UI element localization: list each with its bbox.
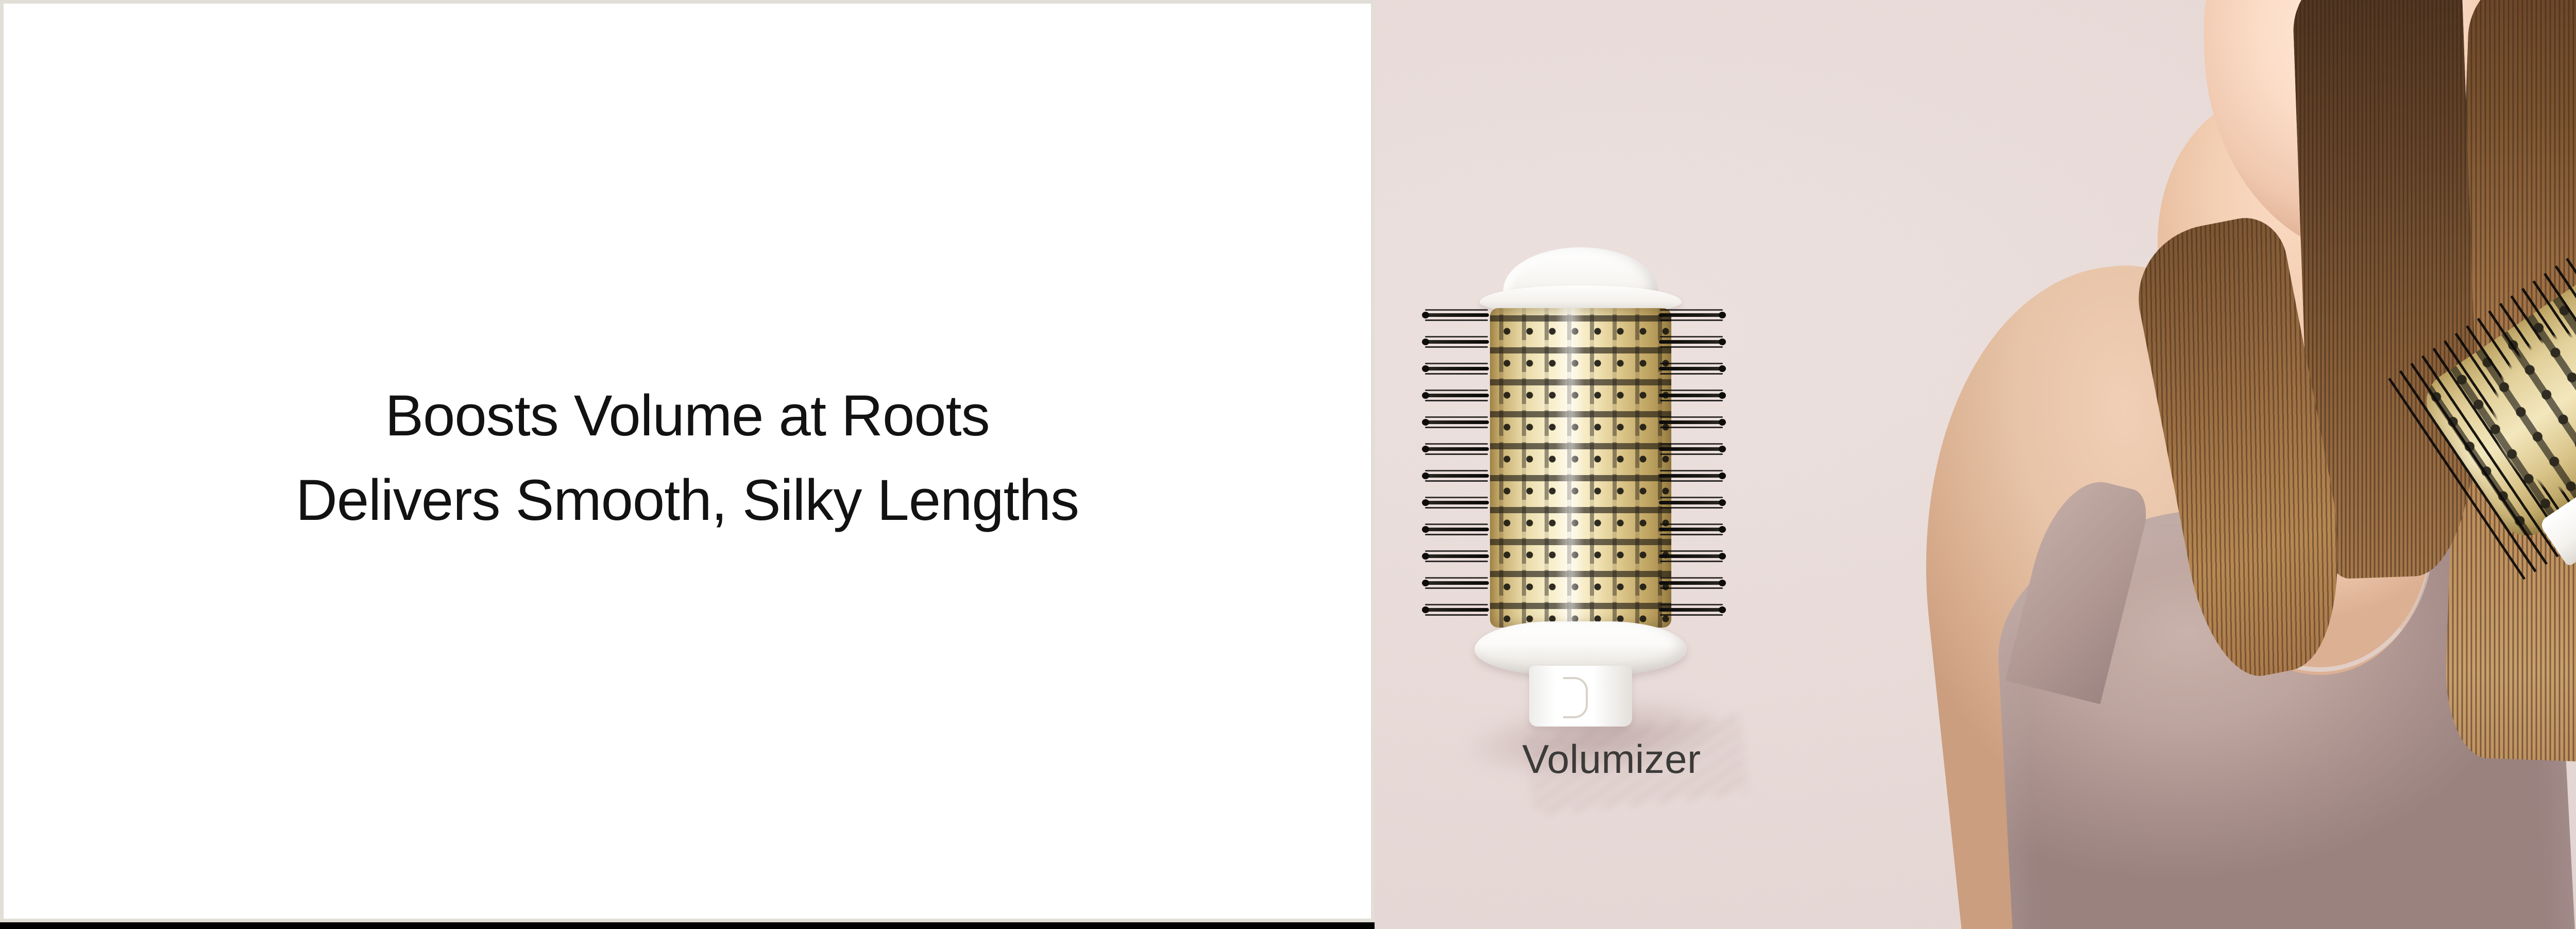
left-copy-panel: Boosts Volume at Roots Delivers Smooth, … <box>0 0 1375 922</box>
headline-line-1: Boosts Volume at Roots <box>296 374 1079 458</box>
headline-line-2: Delivers Smooth, Silky Lengths <box>296 458 1079 543</box>
right-image-panel: Volumizer <box>1375 0 2576 929</box>
product-gold-barrel <box>1490 308 1671 628</box>
product-neck-connector <box>1529 666 1632 727</box>
product-latch-hook-icon <box>1563 677 1588 718</box>
product-feature-banner: Boosts Volume at Roots Delivers Smooth, … <box>0 0 2576 929</box>
headline-block: Boosts Volume at Roots Delivers Smooth, … <box>296 374 1079 542</box>
product-label: Volumizer <box>1436 736 1787 783</box>
barrel-highlight <box>1555 308 1584 628</box>
product-bristles-right <box>1659 309 1724 628</box>
product-bristles-left <box>1424 309 1489 628</box>
model-photo: OFF <box>1849 0 2576 929</box>
volumizer-product: Volumizer <box>1467 247 1756 737</box>
bottom-black-bar <box>0 922 1375 929</box>
